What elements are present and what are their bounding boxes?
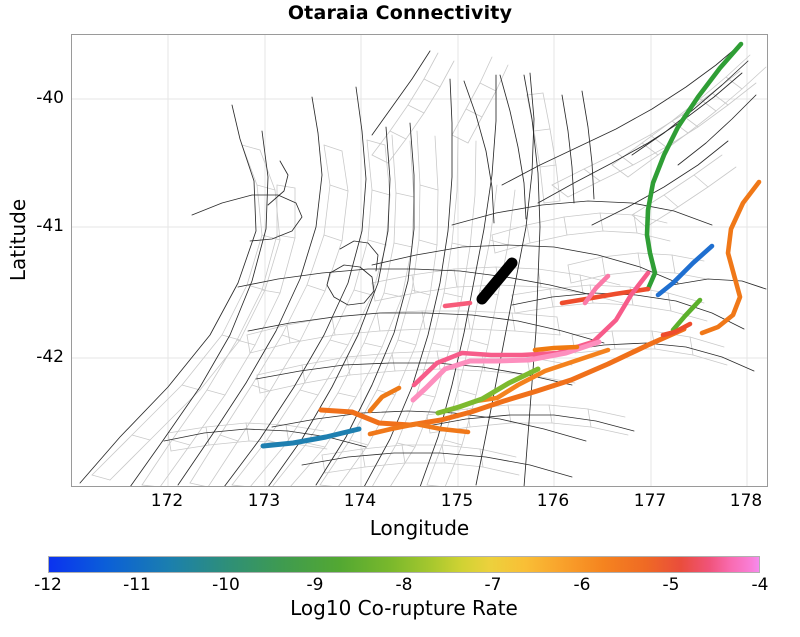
chart-title: Otaraia Connectivity bbox=[0, 2, 800, 24]
figure-canvas: Otaraia Connectivity bbox=[0, 0, 800, 637]
y-tick--41: -41 bbox=[8, 216, 64, 236]
colorbar-tick--10: -10 bbox=[212, 575, 240, 595]
colorbar-tick--5: -5 bbox=[663, 575, 680, 595]
x-tick-176: 176 bbox=[537, 491, 569, 511]
y-tick--42: -42 bbox=[8, 347, 64, 367]
colorbar-label: Log10 Co-rupture Rate bbox=[48, 596, 760, 620]
map-plot-area[interactable] bbox=[71, 34, 768, 487]
gridlines bbox=[72, 35, 768, 487]
fault-line-orange-short-flat bbox=[535, 347, 577, 350]
fault-line-blue-northeast bbox=[658, 246, 712, 295]
colorbar-tick--7: -7 bbox=[485, 575, 502, 595]
colorbar-gradient bbox=[48, 556, 760, 573]
map-svg bbox=[72, 35, 768, 487]
x-tick-173: 173 bbox=[248, 491, 280, 511]
x-tick-178: 178 bbox=[730, 491, 762, 511]
colorbar-tick--11: -11 bbox=[123, 575, 151, 595]
colorbar[interactable] bbox=[48, 556, 760, 573]
x-axis-label: Longitude bbox=[71, 516, 768, 540]
x-tick-172: 172 bbox=[151, 491, 183, 511]
colorbar-tick--12: -12 bbox=[34, 575, 62, 595]
fault-line-teal-southwest bbox=[263, 429, 359, 446]
x-tick-177: 177 bbox=[634, 491, 666, 511]
fault-line-orange-west-stub bbox=[370, 388, 399, 411]
source-fault-otaraia bbox=[482, 263, 512, 299]
colorbar-tick--6: -6 bbox=[574, 575, 591, 595]
x-tick-175: 175 bbox=[441, 491, 473, 511]
y-tick--40: -40 bbox=[8, 88, 64, 108]
colorbar-tick--4: -4 bbox=[752, 575, 769, 595]
x-tick-174: 174 bbox=[344, 491, 376, 511]
colorbar-tick--8: -8 bbox=[396, 575, 413, 595]
colorbar-tick--9: -9 bbox=[307, 575, 324, 595]
fault-line-east-orange-long bbox=[702, 182, 759, 333]
fault-line-pink-stub-west bbox=[445, 303, 470, 306]
y-axis-label: Latitude bbox=[6, 10, 30, 470]
